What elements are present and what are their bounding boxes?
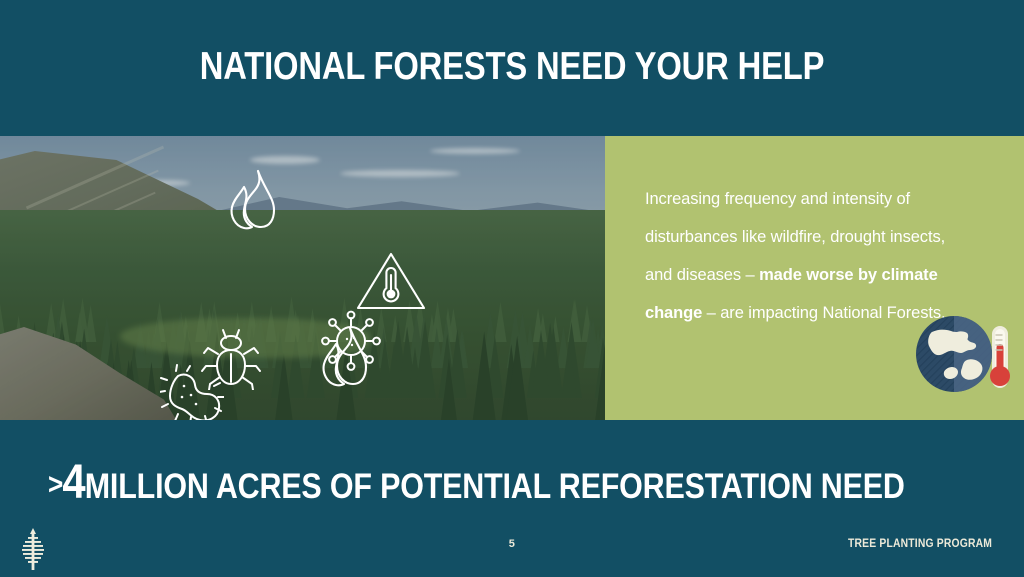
slide-footer: 5 TREE PLANTING PROGRAM bbox=[0, 524, 1024, 576]
panel-body-text: Increasing frequency and intensity of di… bbox=[645, 180, 975, 332]
globe-thermometer-icon bbox=[910, 312, 1014, 396]
headline-number: 4 bbox=[62, 456, 84, 509]
slide-root: NATIONAL FORESTS NEED YOUR HELP bbox=[0, 0, 1024, 576]
flame-icon-2 bbox=[320, 326, 368, 388]
footer-program-label: TREE PLANTING PROGRAM bbox=[848, 538, 992, 550]
flame-icon bbox=[228, 169, 276, 231]
headline-rest: MILLION ACRES OF POTENTIAL REFORESTATION… bbox=[85, 467, 905, 506]
photo-overlay-haze bbox=[0, 136, 605, 420]
greater-than-symbol: > bbox=[48, 468, 62, 501]
warning-thermometer-icon bbox=[354, 248, 428, 314]
beetle-icon bbox=[200, 324, 262, 390]
forest-photo bbox=[0, 136, 605, 420]
info-panel: Increasing frequency and intensity of di… bbox=[605, 136, 1024, 420]
content-band: Increasing frequency and intensity of di… bbox=[0, 136, 1024, 420]
body-part-2: – are impacting National Forests. bbox=[702, 304, 945, 322]
key-statistic-headline: >4MILLION ACRES OF POTENTIAL REFORESTATI… bbox=[48, 455, 1008, 510]
conifer-tree-logo bbox=[16, 528, 50, 572]
page-title: NATIONAL FORESTS NEED YOUR HELP bbox=[82, 44, 942, 90]
